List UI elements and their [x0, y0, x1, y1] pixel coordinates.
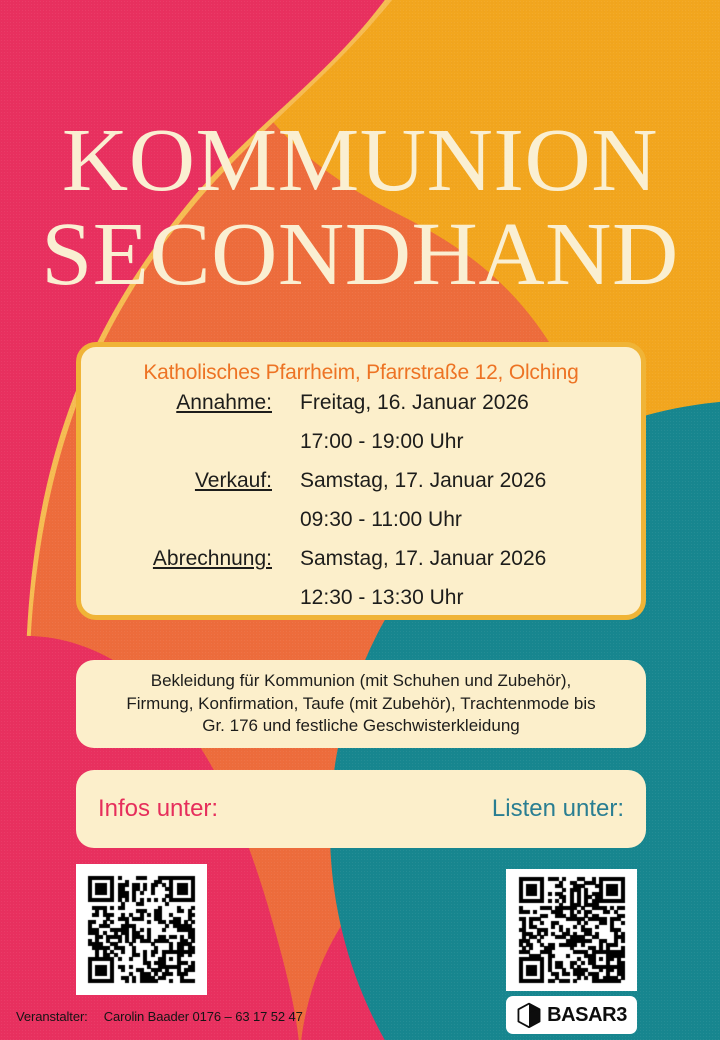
event-details-card: Katholisches Pfarrheim, Pfarrstraße 12, … [76, 342, 646, 620]
schedule-row-abrechnung-time: 12:30 - 13:30 Uhr [95, 586, 627, 625]
title-line-1: KOMMUNION [0, 118, 720, 204]
schedule-label-annahme: Annahme: [95, 391, 300, 415]
infos-label: Infos unter: [98, 795, 218, 823]
schedule-date-verkauf: Samstag, 17. Januar 2026 [300, 469, 627, 493]
qr-code-listen[interactable] [506, 869, 637, 991]
listen-label: Listen unter: [492, 795, 624, 823]
qr-code-listen-image [506, 869, 637, 991]
venue-address: Katholisches Pfarrheim, Pfarrstraße 12, … [81, 361, 641, 385]
description-line-1: Bekleidung für Kommunion (mit Schuhen un… [126, 670, 595, 693]
schedule-rows: Annahme: Freitag, 16. Januar 2026 17:00 … [81, 391, 641, 625]
qr-code-infos-image [76, 864, 207, 995]
poster-title: KOMMUNION SECONDHAND [0, 118, 720, 299]
schedule-row-verkauf-time: 09:30 - 11:00 Uhr [95, 508, 627, 547]
schedule-date-annahme: Freitag, 16. Januar 2026 [300, 391, 627, 415]
schedule-label-annahme-text: Annahme: [176, 391, 272, 414]
organizer-value: Carolin Baader 0176 – 63 17 52 47 [104, 1009, 303, 1024]
schedule-time-verkauf: 09:30 - 11:00 Uhr [300, 508, 627, 532]
schedule-time-abrechnung: 12:30 - 13:30 Uhr [300, 586, 627, 610]
schedule-row-annahme: Annahme: Freitag, 16. Januar 2026 [95, 391, 627, 430]
schedule-date-abrechnung: Samstag, 17. Januar 2026 [300, 547, 627, 571]
qr-code-infos[interactable] [76, 864, 207, 995]
title-line-2: SECONDHAND [0, 212, 720, 298]
organizer-label: Veranstalter: [16, 1009, 88, 1024]
schedule-row-verkauf: Verkauf: Samstag, 17. Januar 2026 [95, 469, 627, 508]
links-card: Infos unter: Listen unter: [76, 770, 646, 848]
poster-canvas: KOMMUNION SECONDHAND Katholisches Pfarrh… [0, 0, 720, 1040]
basar3-logo[interactable]: BASAR3 [506, 996, 637, 1034]
schedule-label-abrechnung-text: Abrechnung: [153, 547, 272, 570]
organizer-footer: Veranstalter:Carolin Baader 0176 – 63 17… [16, 1009, 303, 1024]
description-text: Bekleidung für Kommunion (mit Schuhen un… [108, 670, 613, 739]
description-line-3: Gr. 176 und festliche Geschwisterkleidun… [126, 715, 595, 738]
schedule-row-abrechnung: Abrechnung: Samstag, 17. Januar 2026 [95, 547, 627, 586]
schedule-label-verkauf-text: Verkauf: [195, 469, 272, 492]
description-card: Bekleidung für Kommunion (mit Schuhen un… [76, 660, 646, 748]
description-line-2: Firmung, Konfirmation, Taufe (mit Zubehö… [126, 693, 595, 716]
schedule-time-annahme: 17:00 - 19:00 Uhr [300, 430, 627, 454]
cube-icon [516, 1002, 542, 1028]
schedule-row-annahme-time: 17:00 - 19:00 Uhr [95, 430, 627, 469]
basar3-logo-text: BASAR3 [547, 1004, 627, 1027]
schedule-label-abrechnung: Abrechnung: [95, 547, 300, 571]
schedule-label-verkauf: Verkauf: [95, 469, 300, 493]
